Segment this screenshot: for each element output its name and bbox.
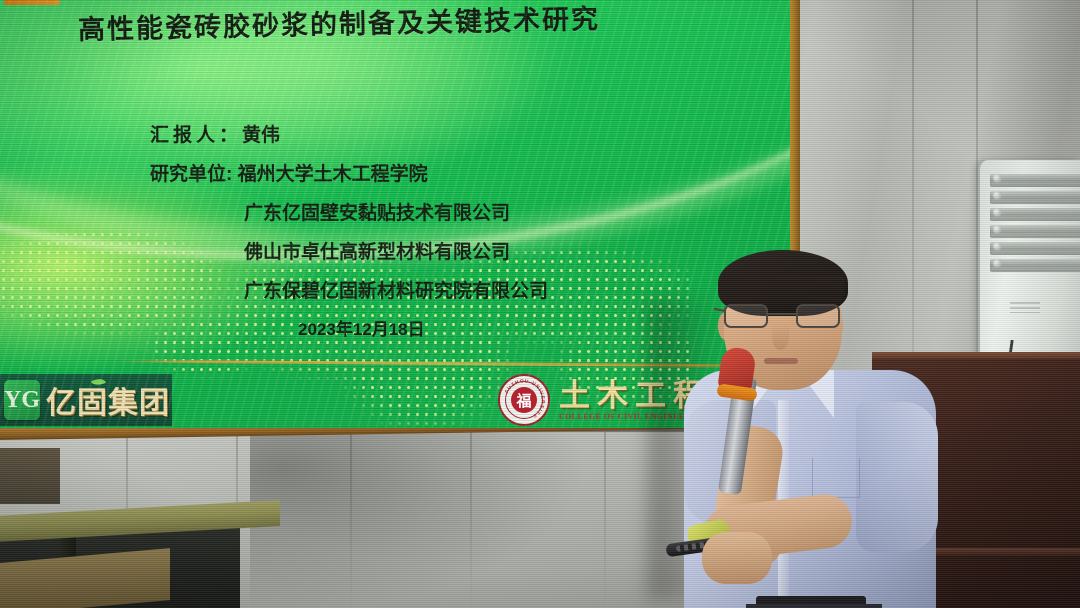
right-sleeve [856,402,938,552]
speaker [660,250,960,608]
presentation-photo: 高性能瓷砖胶砂浆的制备及关键技术研究 汇报人：黄伟 研究单位: 福州大学土木工程… [0,0,1080,608]
nose [772,324,789,350]
seal-character: 福 [511,387,537,413]
wall-shadow [250,432,580,608]
trousers [746,604,882,608]
shirt-pocket [812,458,860,498]
ac-grille-icon [990,172,1080,278]
lens-right [796,304,840,328]
lens-left [724,304,768,328]
chair [0,448,60,504]
glasses-bridge [768,313,796,315]
mouth [764,358,798,364]
hand-holding-pointer [702,532,772,584]
